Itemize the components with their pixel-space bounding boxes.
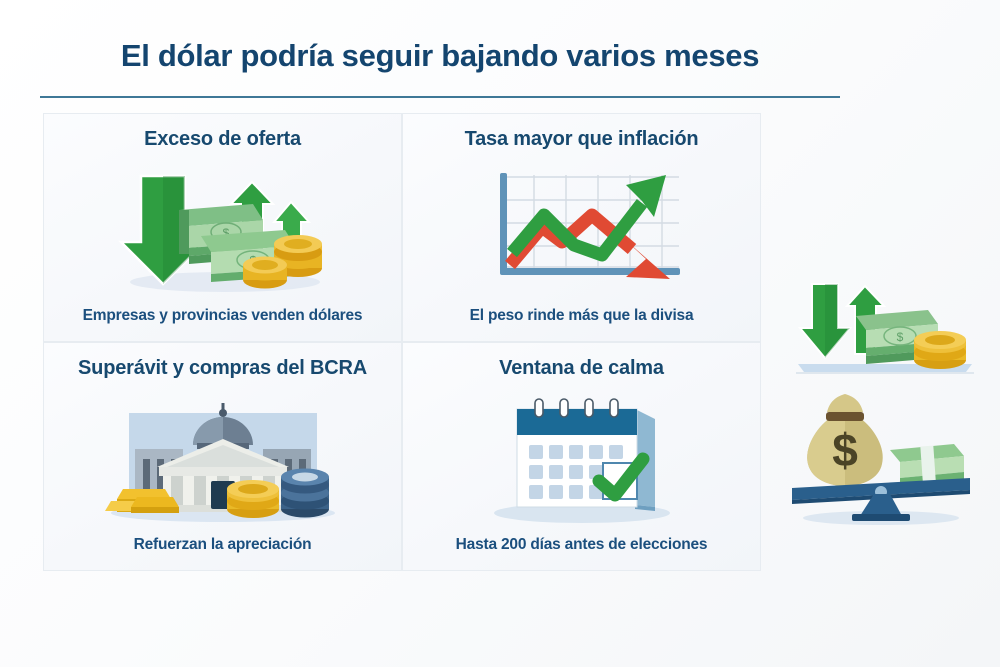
arrows-cash-coins-icon: $ xyxy=(780,272,980,382)
card-title: Tasa mayor que inflación xyxy=(465,128,699,151)
card-subtitle: El peso rinde más que la divisa xyxy=(470,307,694,329)
balance-scale-moneybag-cash-icon: $ xyxy=(778,392,984,527)
card-title: Ventana de calma xyxy=(499,357,664,380)
card-title: Superávit y compras del BCRA xyxy=(78,357,367,380)
card-tasa-mayor-que-inflacion[interactable]: Tasa mayor que inflación xyxy=(402,113,761,342)
card-superavit-y-compras-del-bcra[interactable]: Superávit y compras del BCRA xyxy=(43,342,402,571)
title-divider xyxy=(40,96,840,98)
line-chart-up-down-arrows-icon xyxy=(413,151,750,307)
infographic-canvas: El dólar podría seguir bajando varios me… xyxy=(0,0,1000,667)
calendar-checkmark-icon xyxy=(413,380,750,536)
page-title: El dólar podría seguir bajando varios me… xyxy=(40,38,840,74)
svg-text:$: $ xyxy=(897,330,904,344)
card-title: Exceso de oferta xyxy=(144,128,301,151)
svg-text:$: $ xyxy=(832,424,858,476)
card-exceso-de-oferta[interactable]: Exceso de oferta xyxy=(43,113,402,342)
central-bank-gold-reserves-icon xyxy=(54,380,391,536)
cards-grid: Exceso de oferta xyxy=(43,113,761,571)
card-subtitle: Refuerzan la apreciación xyxy=(134,536,312,558)
down-arrow-cash-coins-icon: $ $ xyxy=(54,151,391,307)
card-subtitle: Hasta 200 días antes de elecciones xyxy=(456,536,708,558)
card-subtitle: Empresas y provincias venden dólares xyxy=(83,307,363,329)
card-ventana-de-calma[interactable]: Ventana de calma xyxy=(402,342,761,571)
